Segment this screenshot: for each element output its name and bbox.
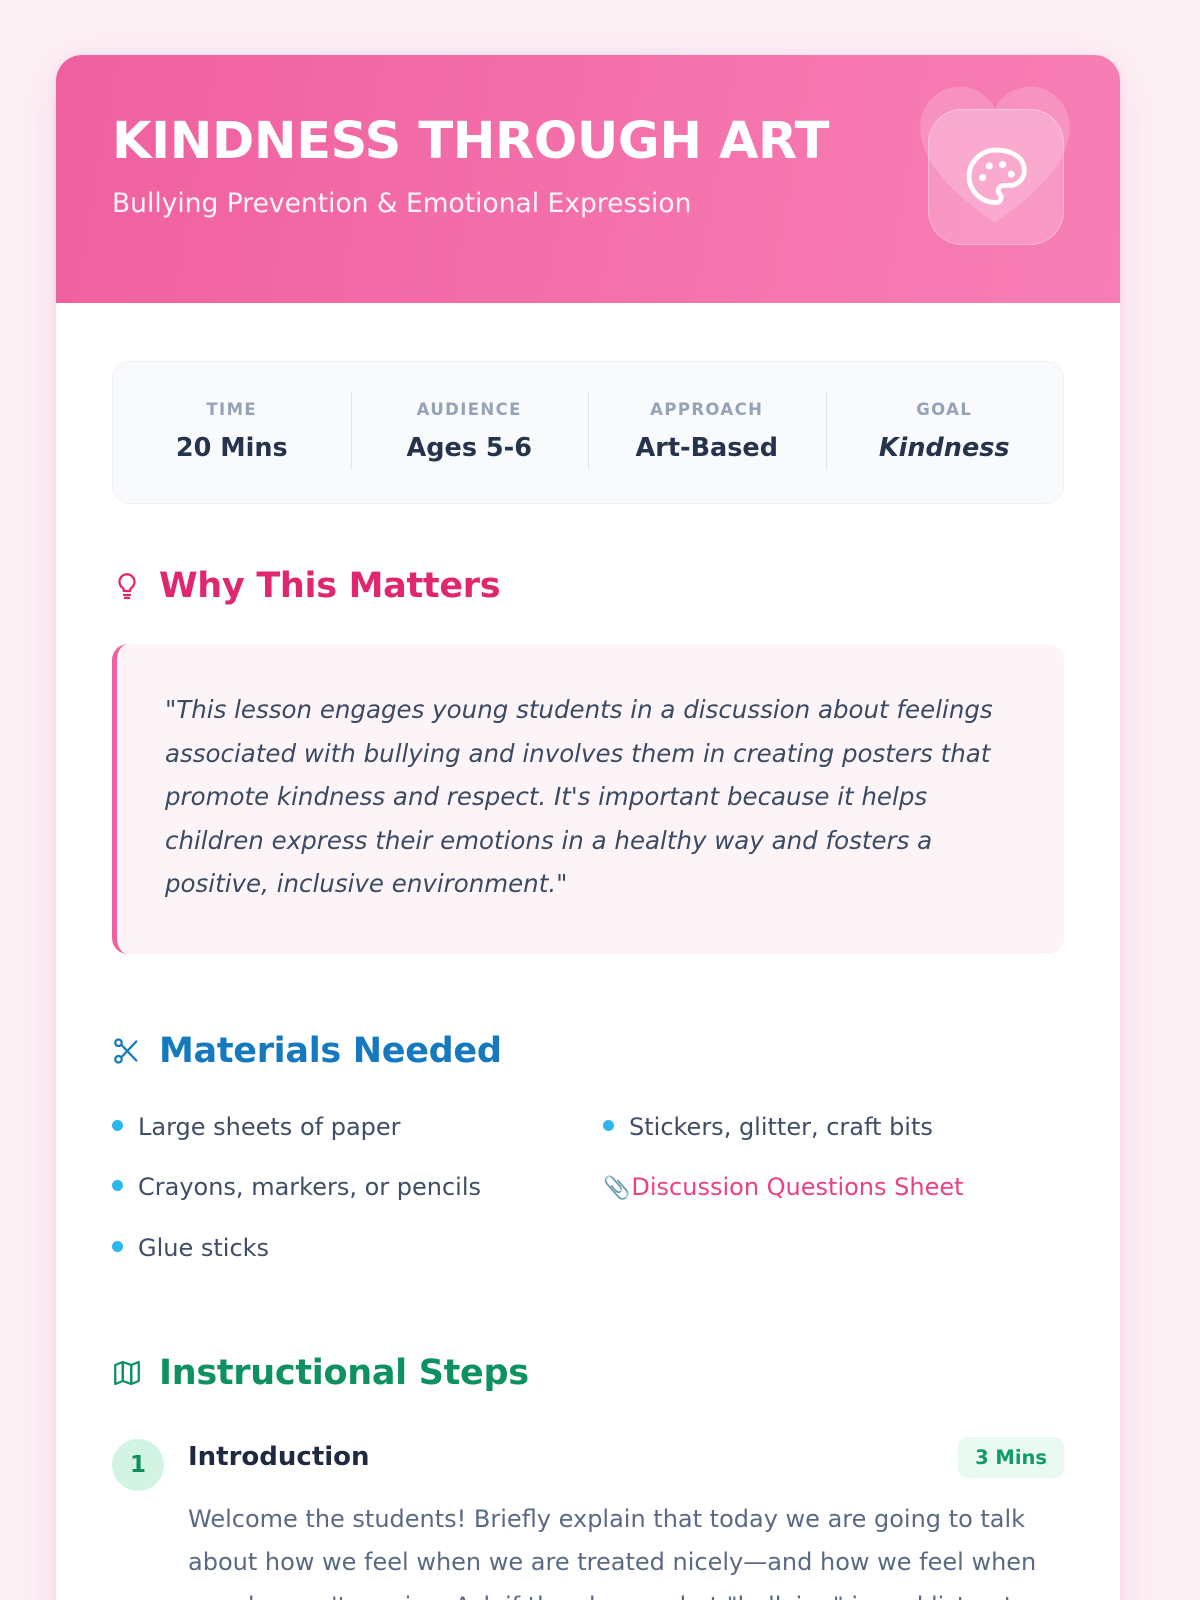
meta-value: Ages 5-6	[351, 433, 589, 463]
meta-label: GOAL	[826, 400, 1064, 419]
section-header: Why This Matters	[112, 566, 1064, 606]
meta-label: APPROACH	[588, 400, 826, 419]
meta-value: Art-Based	[588, 433, 826, 463]
why-quote-text: "This lesson engages young students in a…	[165, 688, 1012, 906]
section-title: Materials Needed	[159, 1031, 502, 1071]
materials-list: Large sheets of paper Stickers, glitter,…	[112, 1097, 1064, 1278]
step-description: Welcome the students! Briefly explain th…	[188, 1498, 1064, 1600]
material-label: Crayons, markers, or pencils	[138, 1171, 481, 1203]
list-item: Crayons, markers, or pencils	[112, 1157, 573, 1218]
instructional-steps-section: Instructional Steps 1 Introduction 3 Min…	[56, 1353, 1120, 1600]
material-label: Stickers, glitter, craft bits	[629, 1111, 933, 1143]
bullet-icon	[112, 1180, 123, 1191]
meta-label: AUDIENCE	[351, 400, 589, 419]
step-body: Introduction 3 Mins Welcome the students…	[188, 1437, 1064, 1600]
meta-value: Kindness	[826, 433, 1064, 463]
steps-list: 1 Introduction 3 Mins Welcome the studen…	[112, 1437, 1064, 1600]
scissors-icon	[112, 1034, 142, 1068]
bullet-icon	[112, 1120, 123, 1131]
list-item: Glue sticks	[112, 1218, 573, 1278]
material-label: Large sheets of paper	[138, 1111, 401, 1143]
card-header: KINDNESS THROUGH ART Bullying Prevention…	[56, 55, 1120, 303]
why-quote-card: "This lesson engages young students in a…	[112, 644, 1064, 954]
palette-icon	[962, 143, 1030, 211]
material-label: Discussion Questions Sheet	[631, 1171, 963, 1203]
meta-item-approach: APPROACH Art-Based	[588, 400, 826, 463]
meta-section: TIME 20 Mins AUDIENCE Ages 5-6 APPROACH …	[56, 303, 1120, 504]
meta-item-time: TIME 20 Mins	[113, 400, 351, 463]
map-icon	[112, 1356, 142, 1390]
lightbulb-icon	[112, 569, 142, 603]
page-title: KINDNESS THROUGH ART	[112, 115, 1064, 169]
discussion-questions-sheet-link[interactable]: 📎 Discussion Questions Sheet	[603, 1157, 1064, 1218]
section-header: Materials Needed	[112, 1031, 1064, 1071]
page-subtitle: Bullying Prevention & Emotional Expressi…	[112, 188, 1064, 220]
bullet-icon	[112, 1241, 123, 1252]
meta-label: TIME	[113, 400, 351, 419]
step-duration-badge: 3 Mins	[958, 1437, 1064, 1478]
palette-badge	[928, 109, 1064, 245]
meta-value: 20 Mins	[113, 433, 351, 463]
meta-bar: TIME 20 Mins AUDIENCE Ages 5-6 APPROACH …	[112, 361, 1064, 504]
why-this-matters-section: Why This Matters "This lesson engages yo…	[56, 566, 1120, 954]
step-title: Introduction	[188, 1442, 370, 1472]
material-label: Glue sticks	[138, 1232, 269, 1264]
materials-section: Materials Needed Large sheets of paper S…	[56, 1031, 1120, 1278]
section-header: Instructional Steps	[112, 1353, 1064, 1393]
list-item: Stickers, glitter, craft bits	[603, 1097, 1064, 1157]
step-header: Introduction 3 Mins	[188, 1437, 1064, 1478]
section-title: Instructional Steps	[159, 1353, 529, 1393]
page-root: KINDNESS THROUGH ART Bullying Prevention…	[0, 0, 1200, 1600]
step-number-badge: 1	[112, 1439, 164, 1491]
lesson-card: KINDNESS THROUGH ART Bullying Prevention…	[56, 55, 1120, 1600]
step-item: 1 Introduction 3 Mins Welcome the studen…	[112, 1437, 1064, 1600]
paperclip-icon: 📎	[603, 1174, 630, 1204]
section-title: Why This Matters	[159, 566, 500, 606]
meta-item-goal: GOAL Kindness	[826, 400, 1064, 463]
meta-item-audience: AUDIENCE Ages 5-6	[351, 400, 589, 463]
bullet-icon	[603, 1120, 614, 1131]
list-item: Large sheets of paper	[112, 1097, 573, 1157]
